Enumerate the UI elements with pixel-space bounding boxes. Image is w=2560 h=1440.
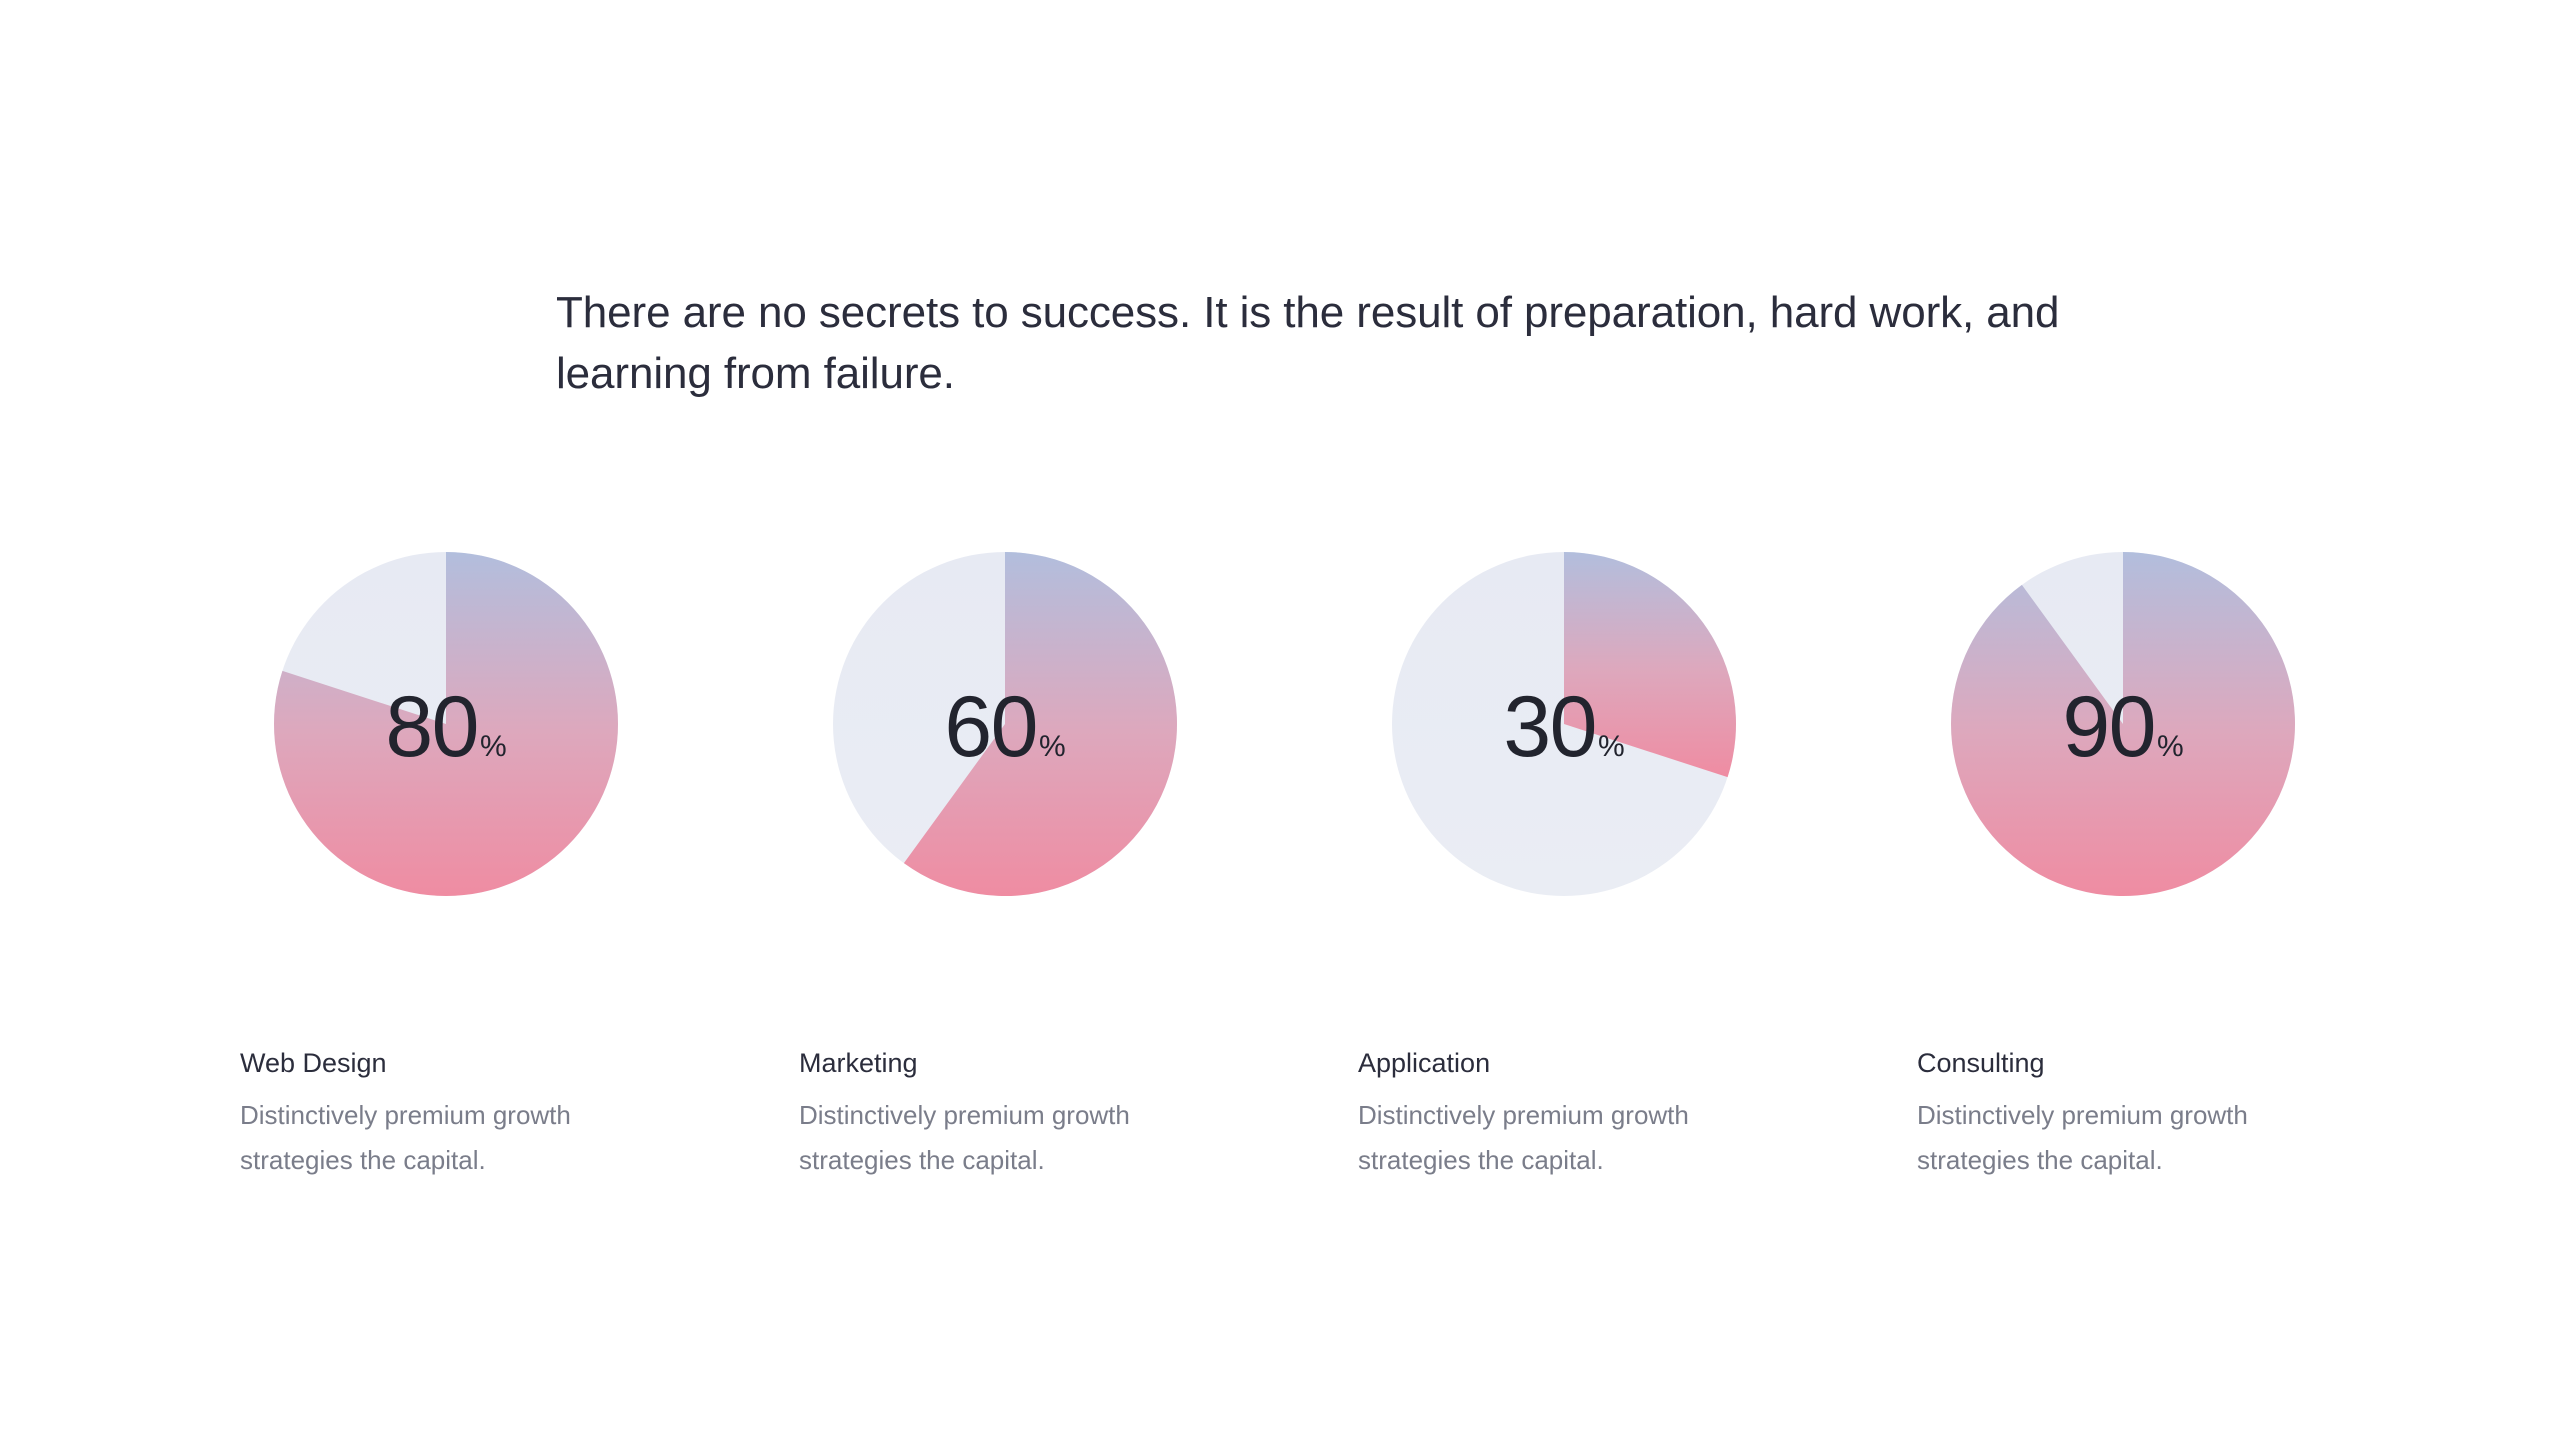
pie-chart-svg-1 — [833, 552, 1177, 896]
pie-chart-web-design: 80 % — [274, 552, 618, 896]
caption-description: Distinctively premium growth strategies … — [240, 1093, 670, 1182]
pie-chart-application: 30 % — [1392, 552, 1736, 896]
caption-title: Consulting — [1917, 1046, 2387, 1081]
pie-chart-consulting: 90 % — [1951, 552, 2295, 896]
caption-description: Distinctively premium growth strategies … — [799, 1093, 1229, 1182]
caption-title: Marketing — [799, 1046, 1269, 1081]
caption-consulting: Consulting Distinctively premium growth … — [1917, 1046, 2387, 1183]
caption-application: Application Distinctively premium growth… — [1358, 1046, 1828, 1183]
pie-chart-row: 80 % — [240, 552, 2360, 902]
caption-description: Distinctively premium growth strategies … — [1358, 1093, 1788, 1182]
pie-chart-svg-3 — [1951, 552, 2295, 896]
pie-chart-svg-0 — [274, 552, 618, 896]
pie-chart-marketing: 60 % — [833, 552, 1177, 896]
pie-chart-svg-2 — [1392, 552, 1736, 896]
caption-marketing: Marketing Distinctively premium growth s… — [799, 1046, 1269, 1183]
caption-title: Application — [1358, 1046, 1828, 1081]
caption-description: Distinctively premium growth strategies … — [1917, 1093, 2347, 1182]
page-title: There are no secrets to success. It is t… — [556, 283, 2136, 404]
caption-title: Web Design — [240, 1046, 710, 1081]
slide-canvas: There are no secrets to success. It is t… — [0, 0, 2560, 1440]
caption-web-design: Web Design Distinctively premium growth … — [240, 1046, 710, 1183]
pie-slice-3 — [1951, 552, 2295, 896]
